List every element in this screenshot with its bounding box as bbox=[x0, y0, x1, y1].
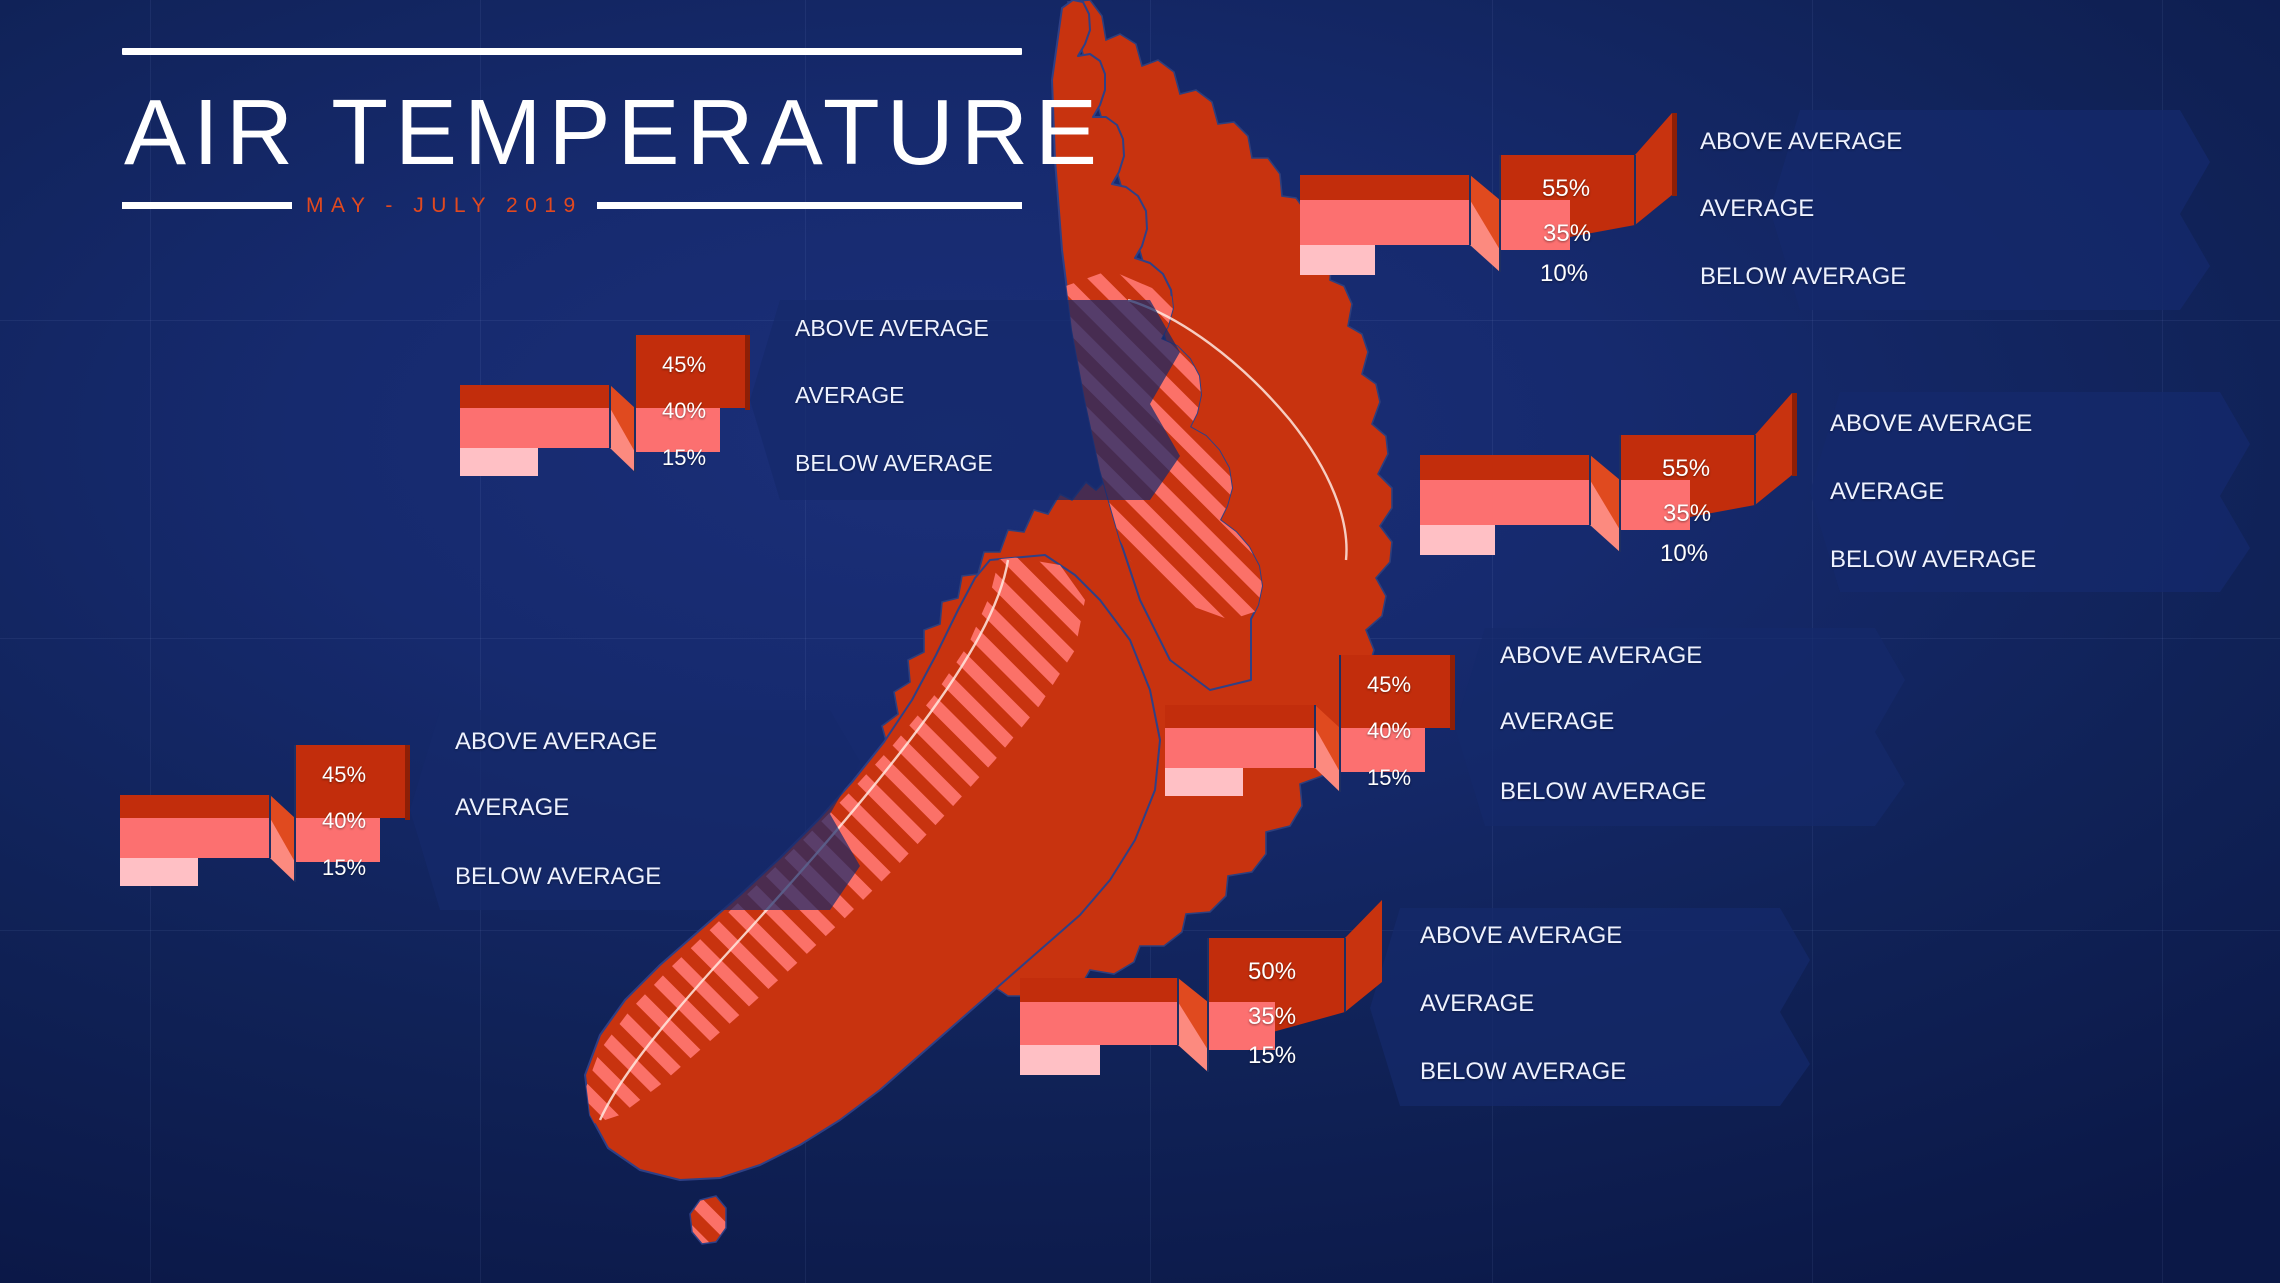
value-above-average: 45% bbox=[322, 762, 366, 788]
infographic-canvas: AIR TEMPERATURE MAY - JULY 2019 bbox=[0, 0, 2280, 1283]
value-average: 40% bbox=[662, 398, 706, 424]
value-above-average: 45% bbox=[1367, 672, 1411, 698]
value-average: 35% bbox=[1543, 220, 1591, 248]
value-above-average: 55% bbox=[1662, 455, 1710, 483]
value-below-average: 15% bbox=[1367, 765, 1411, 791]
legend-label-above: ABOVE AVERAGE bbox=[455, 728, 657, 756]
chart-group-central-new-zealand: 45% 40% 15% ABOVE AVERAGE AVERAGE BELOW … bbox=[1155, 610, 2075, 830]
legend-label-average: AVERAGE bbox=[1500, 708, 1614, 736]
chart-labels: 50% 35% 15% ABOVE AVERAGE AVERAGE BELOW … bbox=[1020, 890, 1970, 1110]
legend-label-average: AVERAGE bbox=[1420, 990, 1534, 1018]
subtitle: MAY - JULY 2019 bbox=[292, 194, 597, 218]
value-above-average: 45% bbox=[662, 352, 706, 378]
legend-label-below: BELOW AVERAGE bbox=[795, 450, 993, 477]
legend-label-below: BELOW AVERAGE bbox=[455, 863, 661, 891]
value-below-average: 15% bbox=[662, 445, 706, 471]
chart-labels: 45% 40% 15% ABOVE AVERAGE AVERAGE BELOW … bbox=[450, 290, 1350, 510]
legend-label-below: BELOW AVERAGE bbox=[1700, 263, 1906, 291]
value-average: 35% bbox=[1663, 500, 1711, 528]
legend-label-above: ABOVE AVERAGE bbox=[1700, 128, 1902, 156]
value-average: 40% bbox=[322, 808, 366, 834]
value-below-average: 15% bbox=[322, 855, 366, 881]
legend-label-below: BELOW AVERAGE bbox=[1500, 778, 1706, 806]
value-average: 35% bbox=[1248, 1003, 1296, 1031]
value-above-average: 55% bbox=[1542, 175, 1590, 203]
chart-labels: 55% 35% 10% ABOVE AVERAGE AVERAGE BELOW … bbox=[1420, 380, 2280, 600]
page-title: AIR TEMPERATURE bbox=[124, 85, 1022, 180]
legend-label-average: AVERAGE bbox=[1700, 195, 1814, 223]
chart-group-southern-south-island: 50% 35% 15% ABOVE AVERAGE AVERAGE BELOW … bbox=[1020, 890, 1970, 1110]
subtitle-row: MAY - JULY 2019 bbox=[122, 194, 1022, 218]
chart-group-western-south-island: 45% 40% 15% ABOVE AVERAGE AVERAGE BELOW … bbox=[110, 700, 1010, 920]
legend-label-above: ABOVE AVERAGE bbox=[795, 315, 989, 342]
legend-label-above: ABOVE AVERAGE bbox=[1830, 410, 2032, 438]
chart-group-eastern-north-island: 55% 35% 10% ABOVE AVERAGE AVERAGE BELOW … bbox=[1420, 380, 2280, 600]
value-below-average: 10% bbox=[1540, 260, 1588, 288]
title-block: AIR TEMPERATURE MAY - JULY 2019 bbox=[122, 48, 1022, 218]
value-below-average: 15% bbox=[1248, 1042, 1296, 1070]
title-top-rule bbox=[122, 48, 1022, 55]
legend-label-above: ABOVE AVERAGE bbox=[1500, 642, 1702, 670]
chart-labels: 45% 40% 15% ABOVE AVERAGE AVERAGE BELOW … bbox=[1155, 610, 2075, 830]
chart-group-northern-north-island: 55% 35% 10% ABOVE AVERAGE AVERAGE BELOW … bbox=[1300, 100, 2250, 320]
subtitle-rule-right bbox=[597, 202, 1022, 209]
legend-label-average: AVERAGE bbox=[1830, 478, 1944, 506]
value-above-average: 50% bbox=[1248, 958, 1296, 986]
chart-labels: 55% 35% 10% ABOVE AVERAGE AVERAGE BELOW … bbox=[1300, 100, 2250, 320]
value-below-average: 10% bbox=[1660, 540, 1708, 568]
value-average: 40% bbox=[1367, 718, 1411, 744]
legend-label-above: ABOVE AVERAGE bbox=[1420, 922, 1622, 950]
chart-group-western-north-island: 45% 40% 15% ABOVE AVERAGE AVERAGE BELOW … bbox=[450, 290, 1350, 510]
legend-label-below: BELOW AVERAGE bbox=[1420, 1058, 1626, 1086]
legend-label-average: AVERAGE bbox=[455, 794, 569, 822]
subtitle-rule-left bbox=[122, 202, 292, 209]
legend-label-below: BELOW AVERAGE bbox=[1830, 546, 2036, 574]
chart-labels: 45% 40% 15% ABOVE AVERAGE AVERAGE BELOW … bbox=[110, 700, 1010, 920]
legend-label-average: AVERAGE bbox=[795, 382, 905, 409]
